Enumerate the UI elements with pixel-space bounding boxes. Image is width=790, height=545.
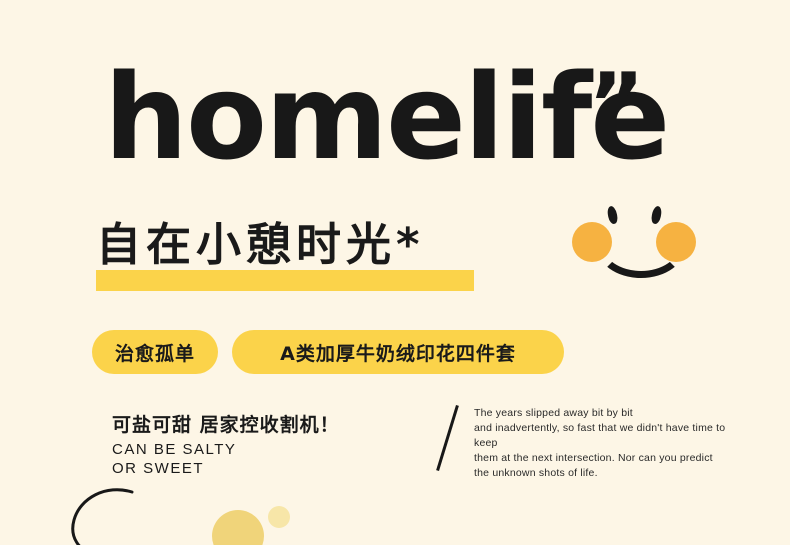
page-title: homelife <box>104 58 668 176</box>
decorative-circle-small <box>268 506 290 528</box>
tag-pill-healing: 治愈孤单 <box>92 330 218 374</box>
subtitle-block: 自在小憩时光* <box>96 222 425 292</box>
decorative-swoosh-icon <box>62 486 134 545</box>
subtitle-highlight-bar <box>96 270 474 291</box>
smiley-mouth <box>596 220 686 278</box>
decorative-circle-large <box>212 510 264 545</box>
slash-divider <box>436 405 459 471</box>
tag-pill-product: A类加厚牛奶绒印花四件套 <box>232 330 564 374</box>
quote-mark-icon: ” <box>588 62 645 148</box>
smiley-face-icon <box>572 206 696 276</box>
slogan-chinese: 可盐可甜 居家控收割机！ <box>112 410 340 437</box>
slogan-english: CAN BE SALTY OR SWEET <box>112 440 236 478</box>
poster-canvas: homelife ” 自在小憩时光* 治愈孤单 A类加厚牛奶绒印花四件套 可盐可… <box>0 0 790 545</box>
body-paragraph: The years slipped away bit by bit and in… <box>474 406 730 481</box>
subtitle-text: 自在小憩时光* <box>96 222 425 267</box>
